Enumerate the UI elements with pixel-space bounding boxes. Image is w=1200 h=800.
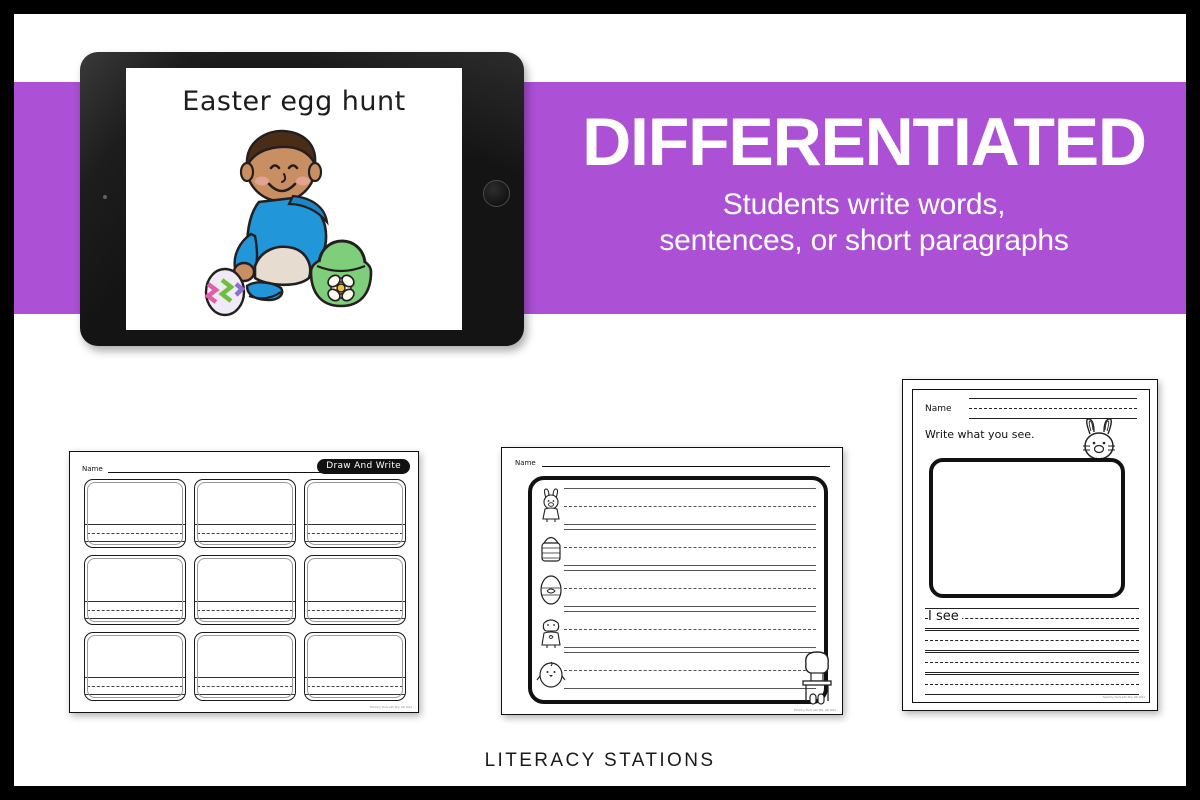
sheep-on-stand-icon — [798, 648, 836, 706]
worksheet-lined-writing[interactable]: Name — [501, 447, 843, 715]
page-title: DIFFERENTIATED — [554, 110, 1174, 175]
draw-write-cell[interactable] — [84, 479, 186, 548]
draw-write-cell[interactable] — [194, 479, 296, 548]
name-write-line — [542, 466, 830, 467]
draw-write-cell[interactable] — [84, 632, 186, 701]
footer-caption: LITERACY STATIONS — [14, 750, 1186, 772]
subtitle-line-1: Students write words, — [554, 187, 1174, 224]
sentence-starter: I see — [928, 610, 962, 623]
handwriting-row[interactable] — [564, 568, 816, 609]
drawing-box[interactable] — [929, 458, 1125, 598]
worksheet-write-what-you-see[interactable]: Name Write what you see. I see — [902, 379, 1158, 711]
name-write-line — [108, 472, 350, 473]
subtitle: Students write words, sentences, or shor… — [554, 187, 1174, 260]
home-button-icon[interactable] — [483, 180, 510, 207]
draw-write-grid — [84, 479, 406, 701]
headline-block: DIFFERENTIATED Students write words, sen… — [554, 110, 1174, 260]
slide-title: Easter egg hunt — [126, 86, 462, 117]
handwriting-row[interactable] — [564, 527, 816, 568]
name-row[interactable] — [969, 398, 1137, 420]
easter-egg-icon — [536, 572, 566, 606]
handwriting-row[interactable] — [564, 486, 816, 527]
lamb-kid-icon — [536, 614, 566, 648]
credit-line: Teaching Tools with Mrs. Hill 2021 — [1103, 696, 1145, 699]
camera-dot-icon — [103, 195, 107, 199]
draw-write-cell[interactable] — [304, 479, 406, 548]
handwriting-row[interactable] — [564, 609, 816, 650]
draw-write-cell[interactable] — [304, 632, 406, 701]
sentence-row[interactable]: I see — [925, 608, 1139, 630]
draw-write-cell[interactable] — [84, 555, 186, 624]
poster-canvas: Easter egg hunt — [14, 14, 1186, 786]
sentence-row[interactable] — [925, 630, 1139, 652]
sentence-row[interactable] — [925, 674, 1139, 696]
sentence-row[interactable] — [925, 652, 1139, 674]
name-label: Name — [82, 465, 103, 473]
handwriting-lines[interactable] — [564, 486, 816, 696]
credit-line: Planning Tools with Mrs. Hill 2021 — [794, 709, 836, 712]
sentence-write-lines[interactable]: I see — [925, 608, 1139, 700]
status-badge: Draw And Write — [317, 459, 410, 474]
credit-line: Planning Tools with Mrs. Hill 2021 — [370, 706, 412, 709]
chick-icon — [536, 656, 566, 690]
subtitle-line-2: sentences, or short paragraphs — [554, 223, 1174, 260]
draw-write-cell[interactable] — [304, 555, 406, 624]
draw-write-cell[interactable] — [194, 555, 296, 624]
bunny-kid-icon — [536, 488, 566, 522]
worksheet-draw-and-write[interactable]: Name Draw And Write Planning Tools with … — [69, 451, 419, 713]
tablet-screen: Easter egg hunt — [126, 68, 462, 330]
name-label: Name — [925, 404, 952, 414]
tablet-device: Easter egg hunt — [80, 52, 524, 346]
easter-basket-icon — [536, 530, 566, 564]
name-label: Name — [515, 459, 536, 467]
prompt-text: Write what you see. — [925, 428, 1035, 441]
draw-write-cell[interactable] — [194, 632, 296, 701]
worksheet-inner-frame: Name Write what you see. I see — [912, 389, 1150, 703]
handwriting-row[interactable] — [564, 650, 816, 691]
boy-with-easter-basket-illustration — [189, 126, 399, 322]
